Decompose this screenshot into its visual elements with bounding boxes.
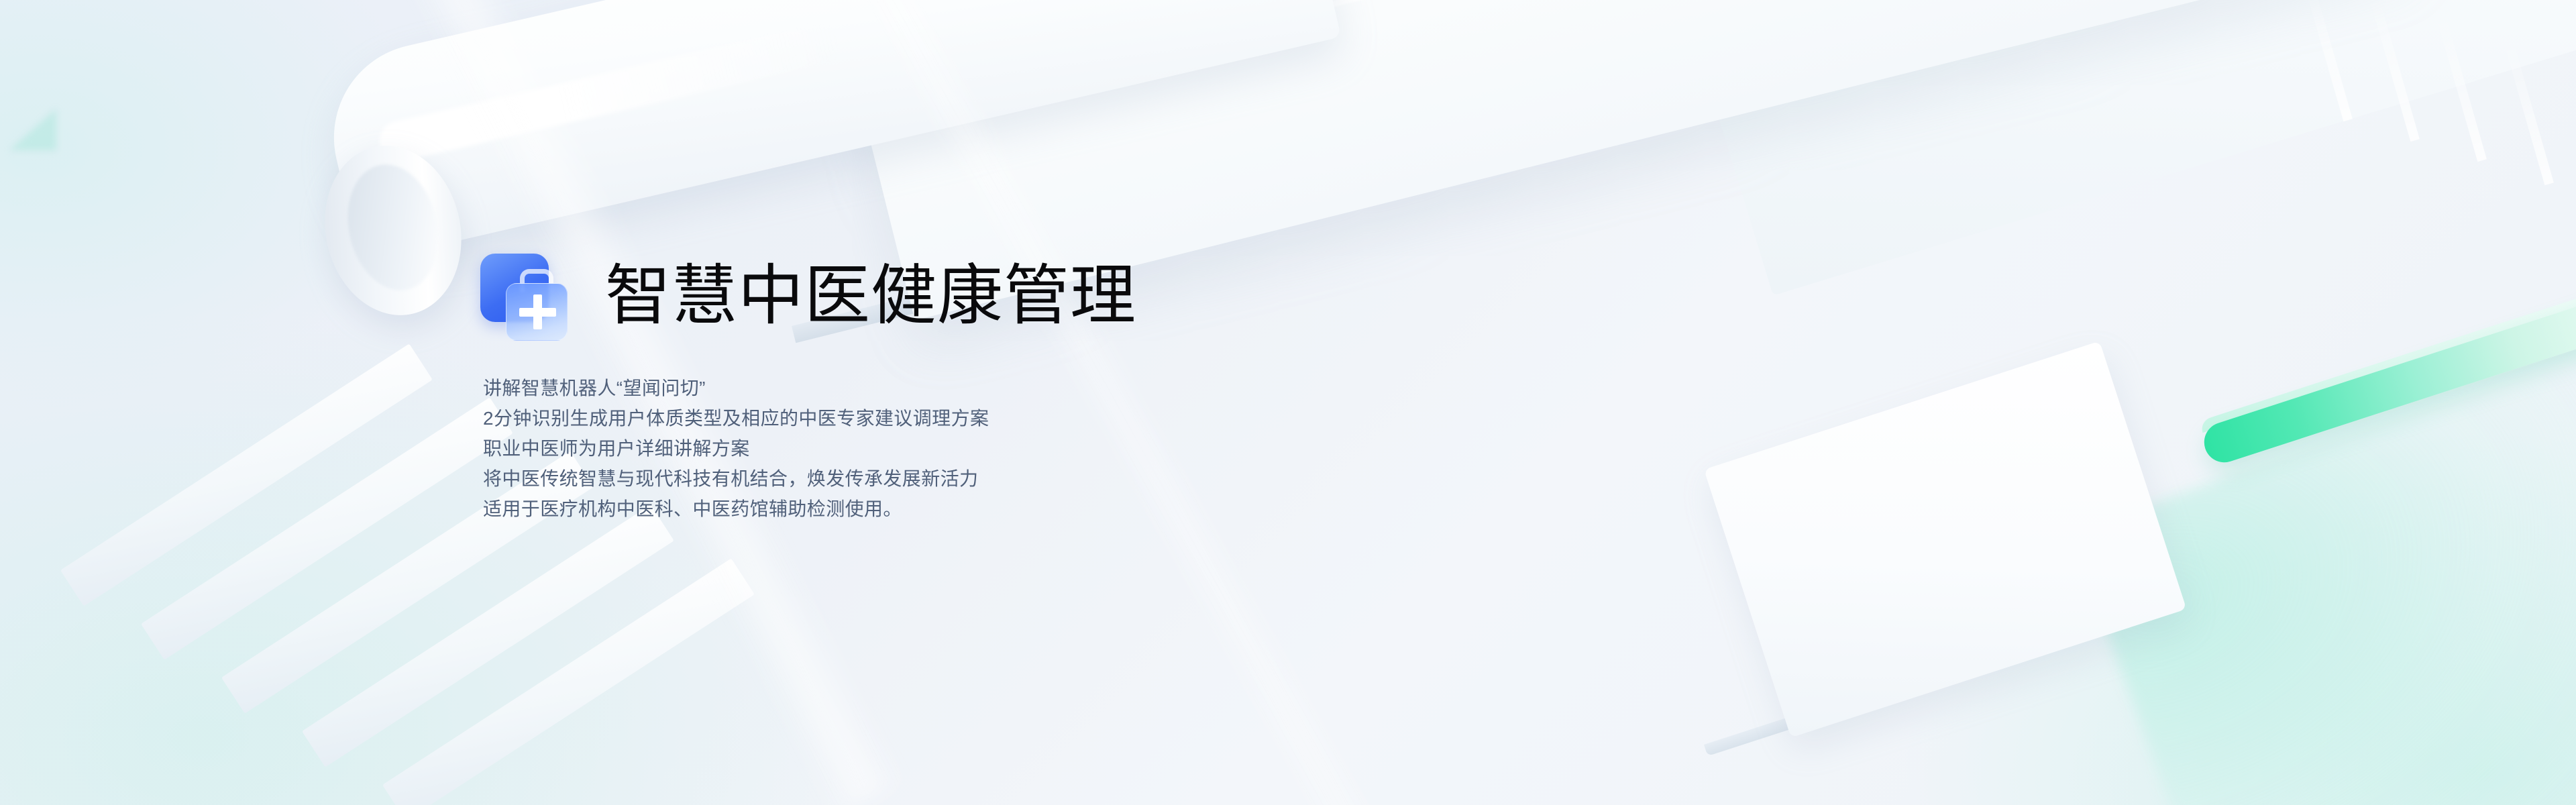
plus-icon-horizontal (519, 308, 556, 317)
description-line-4: 将中医传统智慧与现代科技有机结合，焕发传承发展新活力 (483, 464, 1136, 494)
vertical-ridge-1 (2301, 0, 2353, 121)
vertical-ridge-3 (2435, 11, 2487, 162)
description-line-1: 讲解智慧机器人“望闻问切” (483, 373, 1136, 403)
mint-gradient-wash (2071, 327, 2576, 805)
vertical-ridge-2 (2368, 0, 2420, 142)
description-line-2: 2分钟识别生成用户体质类型及相应的中医专家建议调理方案 (483, 403, 1136, 433)
green-accent-bar-top (2199, 288, 2576, 433)
curled-paper-roll (309, 132, 478, 329)
vertical-ridge-4 (2502, 34, 2554, 185)
description-line-5: 适用于医疗机构中医科、中医药馆辅助检测使用。 (483, 494, 1136, 524)
medical-kit-icon (478, 250, 577, 342)
title-row: 智慧中医健康管理 (478, 250, 1136, 342)
description-line-3: 职业中医师为用户详细讲解方案 (483, 433, 1136, 464)
curled-paper-lip (376, 21, 843, 166)
green-accent-bar (2199, 297, 2576, 468)
stepped-ridge-2 (141, 397, 513, 659)
curled-paper-roll-inner (335, 156, 450, 300)
stepped-ridge-5 (382, 558, 755, 805)
rotated-square-edge (1704, 616, 2103, 756)
rotated-square-panel (1704, 341, 2186, 737)
page-title: 智慧中医健康管理 (605, 261, 1136, 331)
stepped-ridge-1 (60, 343, 433, 606)
hero-banner: 智慧中医健康管理 讲解智慧机器人“望闻问切” 2分钟识别生成用户体质类型及相应的… (0, 0, 2576, 805)
teal-triangle-accent (9, 109, 56, 150)
banner-description: 讲解智慧机器人“望闻问切” 2分钟识别生成用户体质类型及相应的中医专家建议调理方… (483, 373, 1136, 524)
banner-content: 智慧中医健康管理 讲解智慧机器人“望闻问切” 2分钟识别生成用户体质类型及相应的… (478, 250, 1136, 524)
curled-paper-sheet (315, 0, 1341, 263)
slab-highlight-line (771, 0, 2400, 147)
white-slab-right (1597, 0, 2576, 296)
stepped-ridge-4 (302, 504, 674, 767)
